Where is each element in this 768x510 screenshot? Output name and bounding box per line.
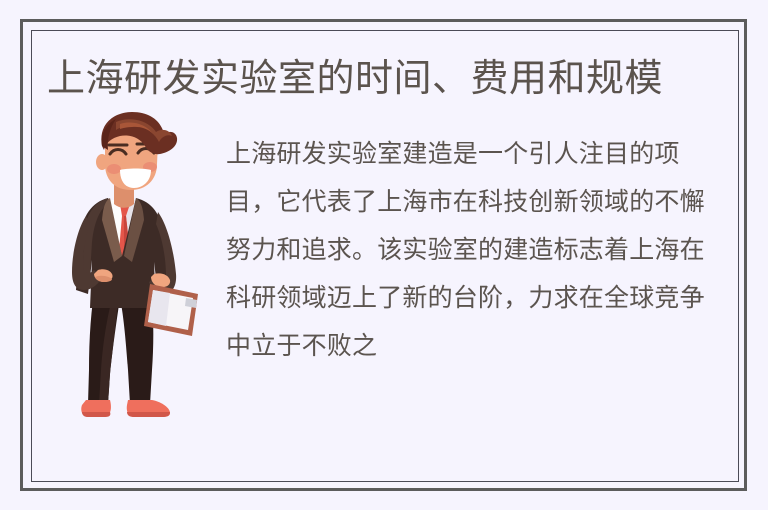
businessman-illustration-svg [58, 112, 208, 422]
shoe-right-sole [127, 412, 170, 417]
page-title: 上海研发实验室的时间、费用和规模 [47, 56, 717, 102]
article-body-text: 上海研发实验室建造是一个引人注目的项目，它代表了上海市在科技创新领域的不懈努力和… [226, 130, 726, 370]
businessman-illustration [58, 112, 208, 422]
shoe-left-sole [82, 412, 110, 417]
article-card: 上海研发实验室的时间、费用和规模 [0, 0, 768, 510]
blush-left [107, 164, 121, 174]
